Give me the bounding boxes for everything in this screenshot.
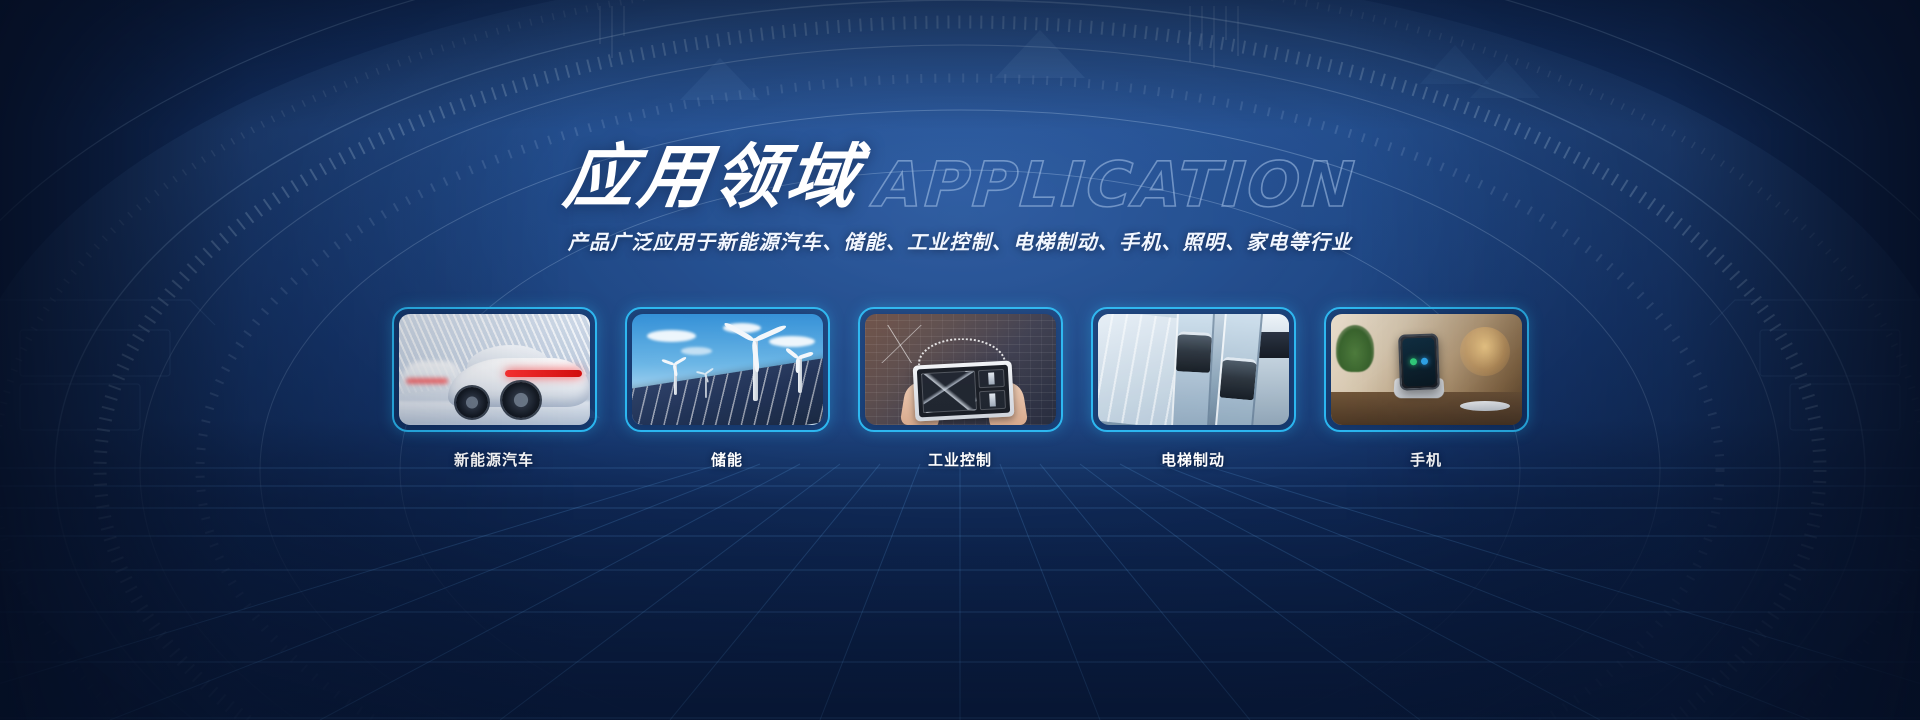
banner-title-row: 应用领域 APPLICATION: [0, 120, 1920, 212]
page-title-english: APPLICATION: [872, 154, 1357, 216]
card-frame: [1091, 307, 1296, 432]
application-card-energy-storage[interactable]: 储能: [625, 307, 830, 470]
application-card-industrial-control[interactable]: 工业控制: [858, 307, 1063, 470]
application-card-ev[interactable]: 新能源汽车: [392, 307, 597, 470]
card-frame: [858, 307, 1063, 432]
card-frame: [625, 307, 830, 432]
card-label: 电梯制动: [1091, 449, 1296, 470]
page-subtitle: 产品广泛应用于新能源汽车、储能、工业控制、电梯制动、手机、照明、家电等行业: [0, 226, 1920, 255]
banner-stage: 应用领域 APPLICATION 产品广泛应用于新能源汽车、储能、工业控制、电梯…: [0, 0, 1920, 720]
application-card-mobile-phone[interactable]: 手机: [1324, 307, 1529, 470]
application-card-elevator-brake[interactable]: 电梯制动: [1091, 307, 1296, 470]
card-frame: [392, 307, 597, 432]
mobile-phone-icon: [1331, 314, 1522, 425]
page-title: 应用领域: [560, 142, 866, 212]
card-label: 工业控制: [858, 449, 1063, 470]
application-card-list: 新能源汽车: [0, 307, 1920, 470]
ev-car-icon: [399, 314, 590, 425]
banner-content: 应用领域 APPLICATION 产品广泛应用于新能源汽车、储能、工业控制、电梯…: [0, 0, 1920, 720]
card-label: 储能: [625, 449, 830, 470]
energy-storage-icon: [632, 314, 823, 425]
card-frame: [1324, 307, 1529, 432]
industrial-control-icon: [865, 314, 1056, 425]
card-label: 新能源汽车: [392, 449, 597, 470]
card-label: 手机: [1324, 449, 1529, 470]
elevator-brake-icon: [1098, 314, 1289, 425]
